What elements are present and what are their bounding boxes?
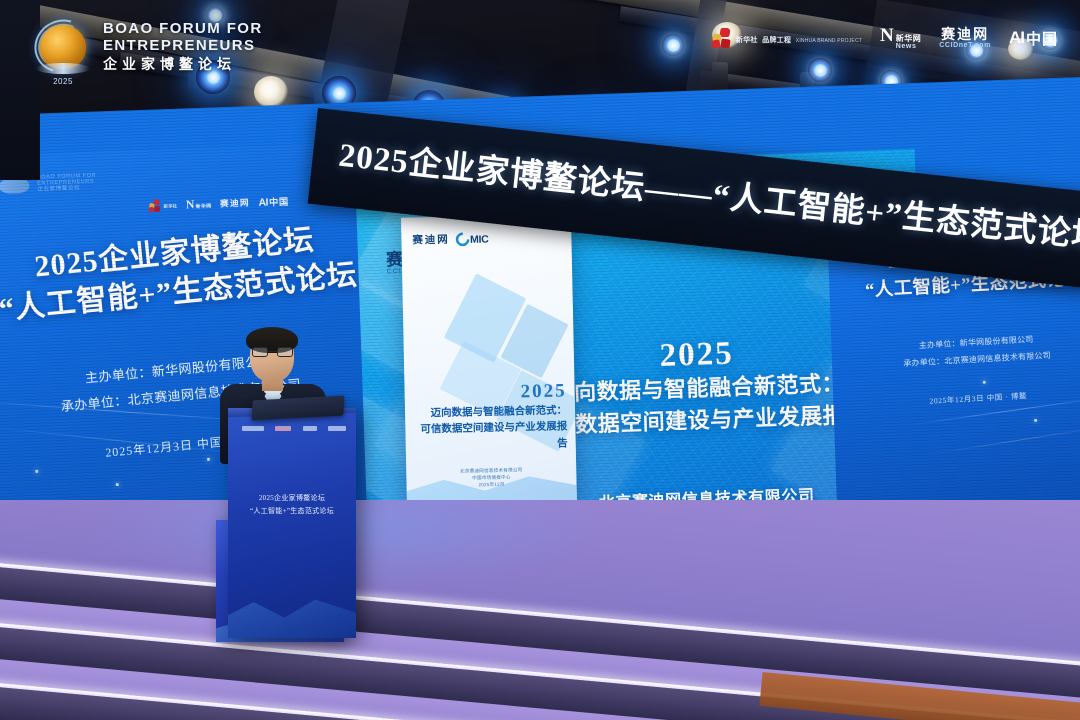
- forum-name-cn: 企业家博鳌论坛: [103, 57, 263, 73]
- podium-logo-row: [242, 426, 346, 431]
- boao-forum-emblem-icon: 2025: [34, 18, 92, 76]
- sponsor-2-cn: 赛迪网: [939, 27, 991, 41]
- cover-title-line2: 可信数据空间建设与产业发展报告: [411, 419, 568, 455]
- sponsor-1-cn: 新华网: [896, 35, 922, 43]
- podium-line2: “人工智能+”生态范式论坛: [234, 505, 350, 518]
- report-cover-standee: 赛迪网 MIC 2025 迈向数据与智能融合新范式： 可信数据空间建设与产业发展…: [401, 214, 577, 509]
- sponsor-ai-china: AI 中国: [1009, 28, 1058, 49]
- sponsor-3-en: AI: [1009, 28, 1024, 48]
- sponsor-xinhuanet-news: N 新华网 News: [880, 26, 921, 50]
- sponsor-0-cn: 新华社: [736, 37, 758, 44]
- lsponsor-3-en: AI: [258, 196, 268, 209]
- sponsor-0-cn-sub: 品牌工程: [762, 37, 791, 44]
- right-screen-credits: 主办单位：新华网股份有限公司 承办单位：北京赛迪网信息技术有限公司: [841, 327, 1080, 376]
- report-cover-title: 2025 迈向数据与智能融合新范式： 可信数据空间建设与产业发展报告: [410, 380, 573, 454]
- cover-year: 2025: [410, 380, 566, 405]
- left-screen-sponsor-row: 新华社 N 新华网 赛迪网 AI 中国: [148, 195, 289, 213]
- xinhua-brand-icon: [148, 199, 161, 212]
- cmic-ring-icon: [453, 230, 472, 249]
- sponsor-xinhua-brand: 新华社 品牌工程 XINHUA BRAND PROJECT: [711, 28, 862, 49]
- lsponsor-0-cn: 新华社: [164, 204, 178, 209]
- xinhua-brand-icon: [711, 28, 732, 49]
- lsponsor-2-cn: 赛迪网: [220, 198, 250, 208]
- sponsor-0-en: XINHUA BRAND PROJECT: [796, 38, 862, 44]
- lsponsor-1-mark: N: [186, 199, 195, 211]
- cover-logo-1-en: MIC: [470, 234, 489, 245]
- podium-wave-graphic: [228, 578, 356, 638]
- stage-floor: [0, 500, 1080, 720]
- cover-logo-0-cn: 赛迪网: [412, 234, 449, 246]
- podium-line1: 2025企业家博鳌论坛: [234, 492, 350, 505]
- forum-name-en-line2: ENTREPRENEURS: [103, 38, 263, 55]
- glasses-icon: [252, 347, 293, 357]
- speaker-podium: 2025企业家博鳌论坛 “人工智能+”生态范式论坛: [228, 408, 356, 638]
- report-cover-logos: 赛迪网 MIC: [412, 232, 488, 247]
- sponsor-1-en: News: [896, 43, 922, 50]
- conference-stage-photo: 2025 BOAO FORUM FOR ENTREPRENEURS 企业家博鳌论…: [0, 0, 1080, 720]
- stage-ring-light: [662, 34, 684, 56]
- sponsor-1-mark: N: [880, 26, 894, 45]
- sponsor-logo-bar: 新华社 品牌工程 XINHUA BRAND PROJECT N 新华网 News…: [711, 26, 1058, 50]
- sponsor-ccidnet: 赛迪网 CCIDneT.com: [939, 27, 991, 48]
- forum-logo-text: BOAO FORUM FOR ENTREPRENEURS 企业家博鳌论坛: [103, 21, 263, 73]
- right-screen-date: 2025年12月3日 中国 · 博鳌: [843, 385, 1080, 411]
- forum-name-en-line1: BOAO FORUM FOR: [103, 21, 263, 38]
- lsponsor-1-cn: 新华网: [196, 204, 212, 210]
- sponsor-2-en: CCIDneT.com: [939, 42, 991, 49]
- boao-forum-logo: 2025 BOAO FORUM FOR ENTREPRENEURS 企业家博鳌论…: [34, 18, 263, 76]
- logo-year: 2025: [34, 77, 92, 86]
- stage-ring-light: [808, 58, 832, 82]
- podium-title: 2025企业家博鳌论坛 “人工智能+”生态范式论坛: [234, 492, 350, 519]
- stage-spotlight: [254, 76, 288, 108]
- left-faint-cn: 企业家博鳌论坛: [37, 185, 96, 193]
- left-screen-title: 2025企业家博鳌论坛 “人工智能+”生态范式论坛: [0, 216, 379, 332]
- sponsor-3-cn: 中国: [1026, 28, 1058, 49]
- lsponsor-3-cn: 中国: [269, 195, 289, 209]
